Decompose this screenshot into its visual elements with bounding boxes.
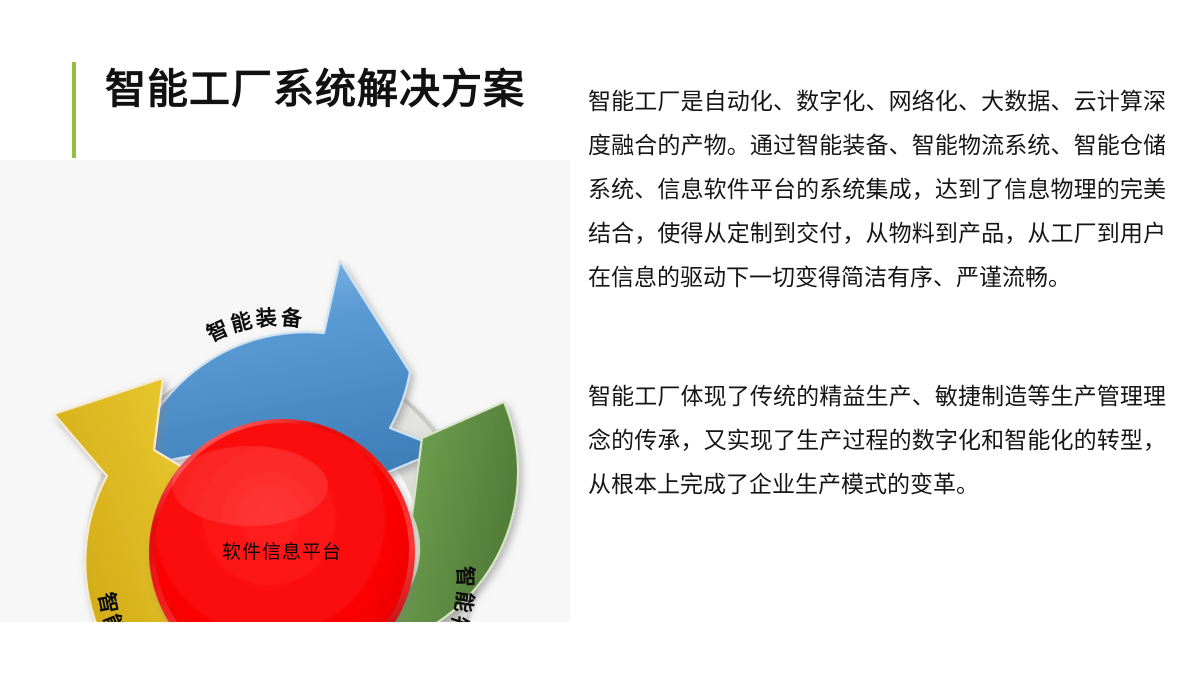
body-paragraph-one: 智能工厂是自动化、数字化、网络化、大数据、云计算深度融合的产物。通过智能装备、智… — [588, 80, 1166, 300]
body-text-column: 智能工厂是自动化、数字化、网络化、大数据、云计算深度融合的产物。通过智能装备、智… — [588, 80, 1166, 507]
title-accent-bar — [72, 62, 76, 158]
page-title-block: 智能工厂系统解决方案 — [72, 62, 525, 158]
smart-factory-cycle-diagram: 智能装备 智能物流 智能仓储 软件信息平台 — [0, 160, 570, 622]
center-circle-label: 软件信息平台 — [222, 541, 342, 563]
page-title: 智能工厂系统解决方案 — [105, 62, 525, 116]
diagram-panel: 智能装备 智能物流 智能仓储 软件信息平台 — [0, 160, 570, 622]
slide-root: 智能工厂系统解决方案 — [0, 0, 1200, 674]
body-paragraph-two: 智能工厂体现了传统的精益生产、敏捷制造等生产管理理念的传承，又实现了生产过程的数… — [588, 375, 1166, 507]
